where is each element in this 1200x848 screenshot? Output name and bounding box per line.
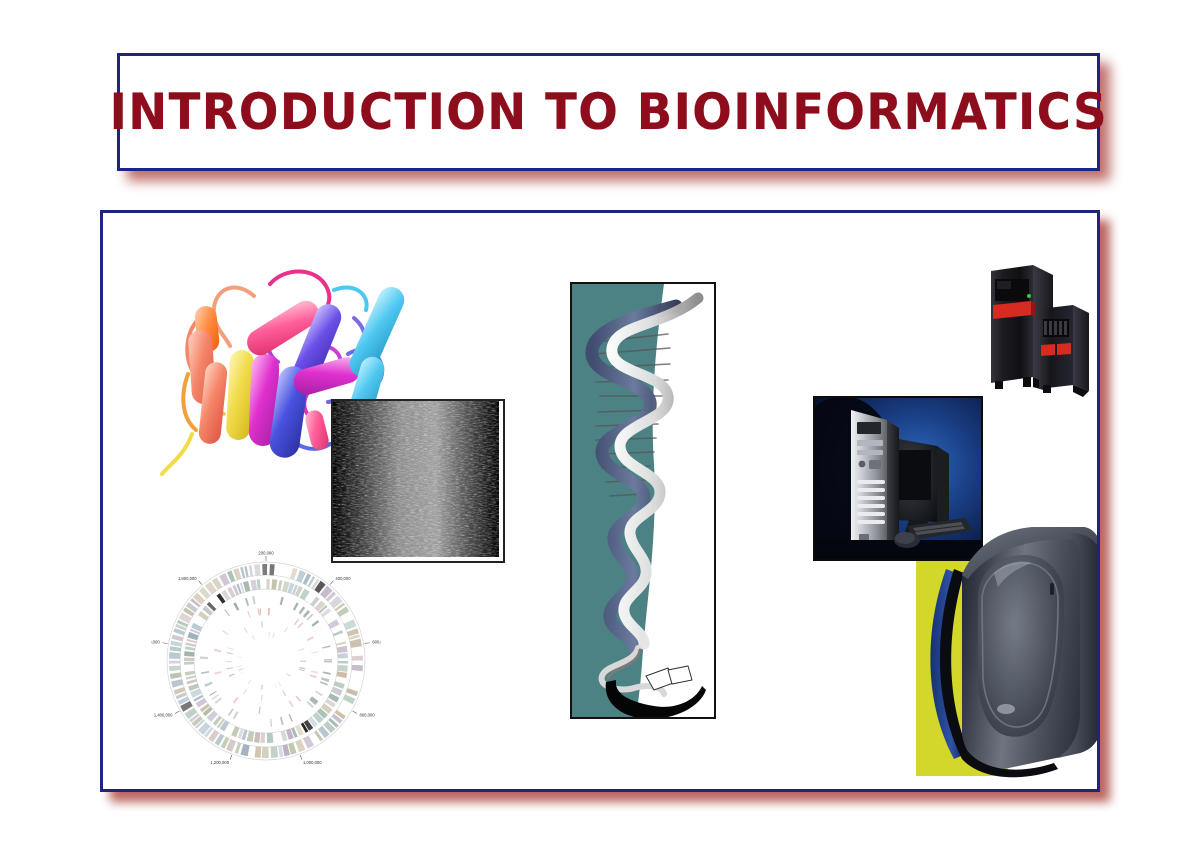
genome-tick-label: 1,000,000: [303, 760, 322, 765]
genome-circle-icon: 200,000400,000600,000800,0001,000,0001,2…: [151, 543, 381, 773]
genome-tick-label: 200,000: [258, 551, 274, 556]
genome-tick-label: 1,600,000: [151, 640, 160, 645]
dna-helix-figure: [570, 282, 716, 719]
server-tower-icon: [975, 261, 1100, 401]
dna-helix-icon: [572, 284, 714, 717]
genome-tick-label: 400,000: [335, 576, 351, 581]
genome-tick-label: 600,000: [372, 640, 381, 645]
server-towers-figure: [975, 261, 1100, 401]
microarray-gel-figure: [331, 399, 505, 563]
content-panel: 200,000400,000600,000800,0001,000,0001,2…: [100, 210, 1100, 792]
circular-genome-map-figure: 200,000400,000600,000800,0001,000,0001,2…: [151, 543, 381, 773]
workstation-tower-icon: [908, 513, 1100, 785]
genome-tick-label: 1,400,000: [154, 713, 173, 718]
genome-tick-label: 1,200,000: [210, 760, 229, 765]
page-title: INTRODUCTION TO BIOINFORMATICS: [109, 87, 1107, 137]
presentation-slide: INTRODUCTION TO BIOINFORMATICS: [0, 0, 1200, 848]
genome-tick-label: 800,000: [360, 713, 376, 718]
genome-tick-label: 1,800,000: [178, 576, 197, 581]
workstation-figure: [908, 513, 1100, 785]
title-box: INTRODUCTION TO BIOINFORMATICS: [117, 53, 1100, 171]
gel-image-icon: [333, 401, 499, 557]
